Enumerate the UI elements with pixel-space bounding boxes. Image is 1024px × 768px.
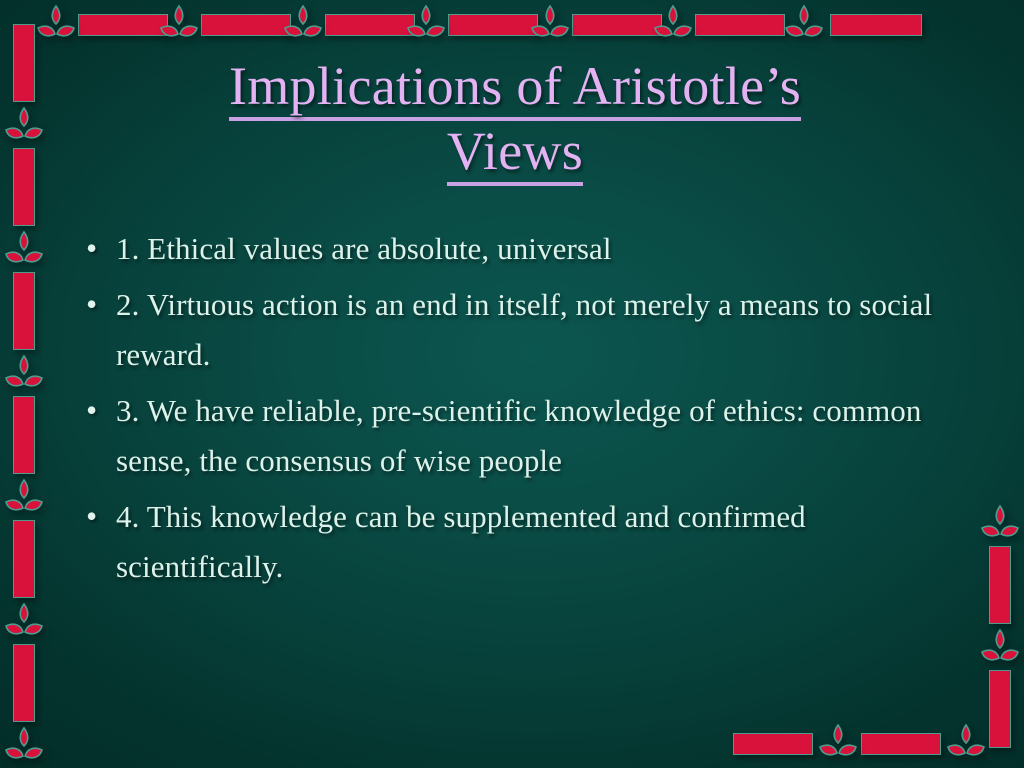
slide-title: Implications of Aristotle’s Views bbox=[100, 56, 930, 186]
red-rectangle-bar bbox=[448, 14, 538, 36]
red-rectangle-bar bbox=[733, 733, 813, 755]
page-title-line-1: Implications of Aristotle’s bbox=[229, 56, 801, 121]
page-title-line-2: Views bbox=[447, 121, 583, 186]
list-item: • 4. This knowledge can be supplemented … bbox=[86, 492, 946, 592]
three-leaf-sprig-icon bbox=[2, 228, 46, 272]
three-leaf-sprig-icon bbox=[978, 502, 1022, 546]
red-rectangle-bar bbox=[861, 733, 941, 755]
three-leaf-sprig-icon bbox=[157, 2, 201, 46]
three-leaf-sprig-icon bbox=[651, 2, 695, 46]
red-rectangle-bar bbox=[989, 546, 1011, 624]
red-rectangle-bar bbox=[695, 14, 785, 36]
three-leaf-sprig-icon bbox=[944, 721, 988, 765]
three-leaf-sprig-icon bbox=[2, 352, 46, 396]
red-rectangle-bar bbox=[989, 670, 1011, 748]
slide-canvas: Implications of Aristotle’s Views • 1. E… bbox=[0, 0, 1024, 768]
three-leaf-sprig-icon bbox=[978, 626, 1022, 670]
bullet-list: • 1. Ethical values are absolute, univer… bbox=[86, 224, 946, 598]
red-rectangle-bar bbox=[830, 14, 922, 36]
bullet-point-icon: • bbox=[86, 386, 116, 434]
three-leaf-sprig-icon bbox=[2, 104, 46, 148]
three-leaf-sprig-icon bbox=[281, 2, 325, 46]
three-leaf-sprig-icon bbox=[2, 724, 46, 768]
list-item-text: 3. We have reliable, pre-scientific know… bbox=[116, 386, 946, 486]
red-rectangle-bar bbox=[78, 14, 168, 36]
three-leaf-sprig-icon bbox=[34, 2, 78, 46]
list-item: • 1. Ethical values are absolute, univer… bbox=[86, 224, 946, 274]
list-item-text: 1. Ethical values are absolute, universa… bbox=[116, 224, 946, 274]
list-item-text: 4. This knowledge can be supplemented an… bbox=[116, 492, 946, 592]
bullet-point-icon: • bbox=[86, 224, 116, 272]
red-rectangle-bar bbox=[13, 520, 35, 598]
three-leaf-sprig-icon bbox=[2, 600, 46, 644]
red-rectangle-bar bbox=[13, 24, 35, 102]
red-rectangle-bar bbox=[572, 14, 662, 36]
three-leaf-sprig-icon bbox=[816, 721, 860, 765]
list-item: • 2. Virtuous action is an end in itself… bbox=[86, 280, 946, 380]
red-rectangle-bar bbox=[13, 272, 35, 350]
bullet-point-icon: • bbox=[86, 280, 116, 328]
red-rectangle-bar bbox=[13, 396, 35, 474]
red-rectangle-bar bbox=[201, 14, 291, 36]
list-item-text: 2. Virtuous action is an end in itself, … bbox=[116, 280, 946, 380]
red-rectangle-bar bbox=[13, 148, 35, 226]
three-leaf-sprig-icon bbox=[2, 476, 46, 520]
bullet-point-icon: • bbox=[86, 492, 116, 540]
list-item: • 3. We have reliable, pre-scientific kn… bbox=[86, 386, 946, 486]
red-rectangle-bar bbox=[13, 644, 35, 722]
three-leaf-sprig-icon bbox=[782, 2, 826, 46]
three-leaf-sprig-icon bbox=[404, 2, 448, 46]
three-leaf-sprig-icon bbox=[528, 2, 572, 46]
red-rectangle-bar bbox=[325, 14, 415, 36]
